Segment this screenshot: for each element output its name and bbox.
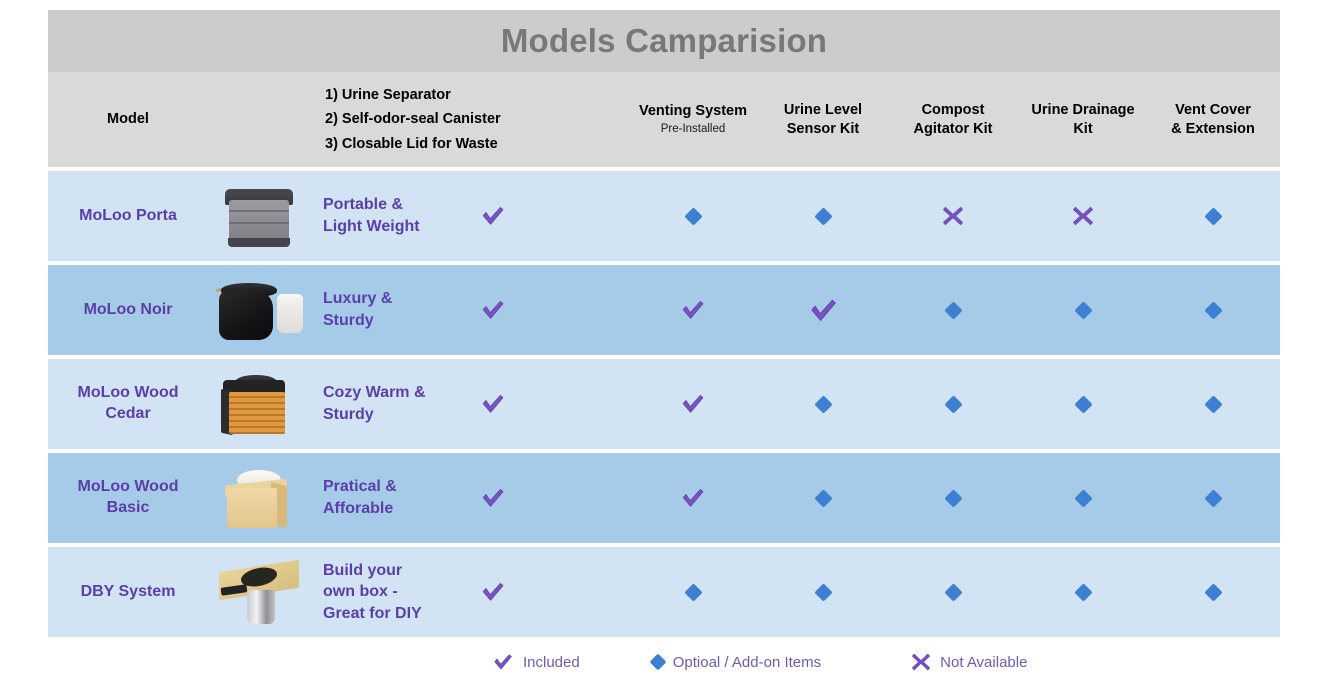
legend-label: Not Available — [940, 654, 1027, 671]
cell-mark — [1018, 547, 1148, 637]
row-desc-line2: Sturdy — [323, 312, 374, 329]
cell-mark — [628, 171, 758, 261]
header-urine-drainage-kit-line1: Urine Drainage — [1031, 101, 1134, 120]
row-desc-line2: own box - — [323, 583, 398, 600]
comparison-table: Models Camparision Model 1) Urine Separa… — [48, 10, 1280, 641]
basic-wood-toilet-icon — [215, 462, 307, 534]
check-icon — [480, 203, 506, 229]
diamond-icon — [684, 583, 702, 601]
row-description: Portable &Light Weight — [313, 171, 628, 261]
header-compost-agitator-kit-line2: Agitator Kit — [914, 120, 993, 139]
comparison-table-page: Models Camparision Model 1) Urine Separa… — [0, 0, 1339, 678]
page-title: Models Camparision — [501, 22, 827, 60]
row-desc-line2: Light Weight — [323, 218, 420, 235]
row-desc-line1: Portable & — [323, 196, 403, 213]
header-compost-agitator-kit-line1: Compost — [922, 101, 985, 120]
header-urine-level-sensor-kit: Urine Level Sensor Kit — [758, 72, 888, 167]
header-urine-level-sensor-kit-line2: Sensor Kit — [787, 120, 860, 139]
diamond-icon — [1074, 583, 1092, 601]
cell-mark — [758, 359, 888, 449]
diamond-icon — [649, 654, 666, 671]
header-urine-drainage-kit: Urine Drainage Kit — [1018, 72, 1148, 167]
table-body: MoLoo PortaPortable &Light WeightMoLoo N… — [48, 171, 1280, 637]
diamond-icon — [1204, 301, 1222, 319]
row-model-line2: Basic — [107, 499, 150, 516]
row-model-name: MoLoo WoodCedar — [48, 359, 208, 449]
table-header-row: Model 1) Urine Separator 2) Self-odor-se… — [48, 72, 1280, 167]
cell-mark — [888, 547, 1018, 637]
row-model-line1: DBY System — [81, 583, 176, 600]
row-desc-line2: Sturdy — [323, 406, 374, 423]
cell-mark — [888, 453, 1018, 543]
row-description: Build yourown box -Great for DIY — [313, 547, 628, 637]
diamond-icon — [1074, 301, 1092, 319]
legend: IncludedOptioal / Add-on ItemsNot Availa… — [48, 646, 1280, 678]
cell-mark — [758, 547, 888, 637]
header-image — [208, 72, 313, 167]
row-model-name: MoLoo WoodBasic — [48, 453, 208, 543]
diamond-icon — [944, 489, 962, 507]
check-icon — [680, 485, 706, 511]
check-icon — [480, 485, 506, 511]
cedar-wood-toilet-icon — [215, 368, 307, 440]
cell-mark — [1148, 547, 1278, 637]
header-vent-cover-extension: Vent Cover & Extension — [1148, 72, 1278, 167]
diamond-icon — [814, 207, 832, 225]
header-vent-cover-extension-line1: Vent Cover — [1175, 101, 1251, 120]
cell-mark — [628, 265, 758, 355]
legend-item: Included — [492, 651, 580, 673]
check-icon — [680, 297, 706, 323]
row-desc-line1: Cozy Warm & — [323, 384, 426, 401]
legend-item: Optioal / Add-on Items — [652, 654, 821, 671]
header-compost-agitator-kit: Compost Agitator Kit — [888, 72, 1018, 167]
header-venting-system-sub: Pre-Installed — [661, 122, 726, 137]
table-row: MoLoo PortaPortable &Light Weight — [48, 171, 1280, 261]
check-icon — [492, 651, 514, 673]
cell-mark — [758, 265, 888, 355]
row-desc-line1: Luxury & — [323, 290, 392, 307]
product-image — [208, 453, 313, 543]
cell-mark — [1018, 359, 1148, 449]
cell-mark — [1148, 171, 1278, 261]
row-desc-line2: Afforable — [323, 500, 393, 517]
cell-mark — [1148, 453, 1278, 543]
header-model-label: Model — [107, 110, 149, 129]
diamond-icon — [814, 395, 832, 413]
cell-mark — [1018, 453, 1148, 543]
row-desc-line1: Build your — [323, 562, 402, 579]
row-desc-line1: Pratical & — [323, 478, 397, 495]
cell-mark — [1148, 265, 1278, 355]
black-composting-toilet-icon — [215, 274, 307, 346]
portable-toilet-icon — [215, 180, 307, 252]
product-image — [208, 171, 313, 261]
cell-mark — [888, 359, 1018, 449]
diamond-icon — [1204, 207, 1222, 225]
diamond-icon — [1074, 395, 1092, 413]
cell-mark — [1018, 265, 1148, 355]
diamond-icon — [1204, 583, 1222, 601]
row-model-line1: MoLoo Wood — [78, 384, 179, 401]
header-vent-cover-extension-line2: & Extension — [1171, 120, 1255, 139]
cell-mark — [628, 547, 758, 637]
table-row: MoLoo WoodCedarCozy Warm &Sturdy — [48, 359, 1280, 449]
product-image — [208, 265, 313, 355]
diamond-icon — [1074, 489, 1092, 507]
header-standard-features: 1) Urine Separator 2) Self-odor-seal Can… — [313, 72, 628, 167]
row-model-line1: MoLoo Porta — [79, 207, 177, 224]
x-icon — [1072, 205, 1094, 227]
header-feature-3: 3) Closable Lid for Waste — [325, 132, 498, 157]
table-row: MoLoo WoodBasicPratical &Afforable — [48, 453, 1280, 543]
row-model-name: DBY System — [48, 547, 208, 637]
header-urine-level-sensor-kit-line1: Urine Level — [784, 101, 862, 120]
row-model-name: MoLoo Porta — [48, 171, 208, 261]
header-feature-2: 2) Self-odor-seal Canister — [325, 107, 501, 132]
row-model-name: MoLoo Noir — [48, 265, 208, 355]
diamond-icon — [944, 301, 962, 319]
row-model-line1: MoLoo Wood — [78, 478, 179, 495]
check-icon — [680, 391, 706, 417]
product-image — [208, 547, 313, 637]
cell-mark — [888, 171, 1018, 261]
table-row: MoLoo NoirLuxury &Sturdy — [48, 265, 1280, 355]
x-icon — [942, 205, 964, 227]
diamond-icon — [1204, 395, 1222, 413]
diamond-icon — [684, 207, 702, 225]
row-description: Luxury &Sturdy — [313, 265, 628, 355]
row-description: Cozy Warm &Sturdy — [313, 359, 628, 449]
table-title-bar: Models Camparision — [48, 10, 1280, 72]
check-icon — [480, 391, 506, 417]
cell-mark — [758, 453, 888, 543]
cell-mark — [888, 265, 1018, 355]
legend-label: Optioal / Add-on Items — [673, 654, 821, 671]
check-icon — [480, 297, 506, 323]
row-desc-line3: Great for DIY — [323, 605, 422, 622]
diamond-icon — [944, 583, 962, 601]
header-model: Model — [48, 72, 208, 167]
cell-mark — [628, 359, 758, 449]
diamond-icon — [944, 395, 962, 413]
cell-mark — [758, 171, 888, 261]
cell-mark — [1148, 359, 1278, 449]
check-icon — [480, 579, 506, 605]
row-model-line1: MoLoo Noir — [84, 301, 173, 318]
product-image — [208, 359, 313, 449]
table-row: DBY SystemBuild yourown box -Great for D… — [48, 547, 1280, 637]
cell-mark — [628, 453, 758, 543]
diamond-icon — [814, 583, 832, 601]
header-venting-system-title: Venting System — [639, 102, 747, 121]
check-icon — [808, 295, 839, 326]
cell-mark — [1018, 171, 1148, 261]
x-icon — [911, 652, 931, 672]
diamond-icon — [814, 489, 832, 507]
header-venting-system: Venting System Pre-Installed — [628, 72, 758, 167]
header-feature-1: 1) Urine Separator — [325, 83, 451, 108]
row-model-line2: Cedar — [105, 405, 150, 422]
header-urine-drainage-kit-line2: Kit — [1073, 120, 1092, 139]
legend-item: Not Available — [911, 652, 1027, 672]
diamond-icon — [1204, 489, 1222, 507]
legend-label: Included — [523, 654, 580, 671]
diy-kit-icon — [215, 556, 307, 628]
row-description: Pratical &Afforable — [313, 453, 628, 543]
